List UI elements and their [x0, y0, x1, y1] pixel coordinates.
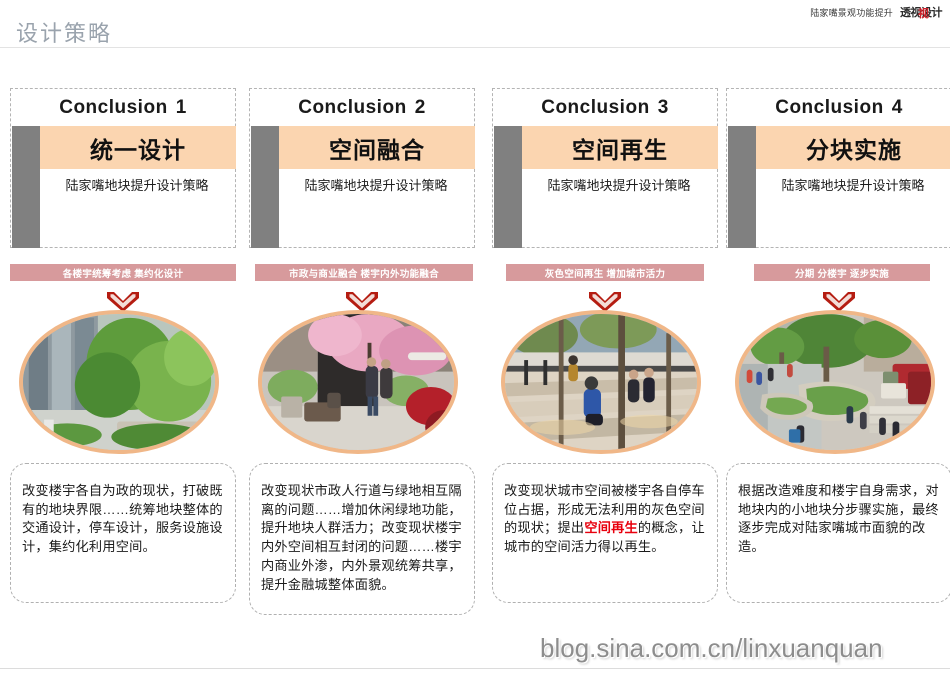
conclusion-title-4: 分块实施 [806, 131, 902, 165]
strategy-badge-4: 分期 分楼宇 逐步实施 [754, 264, 930, 281]
header-brand: 陆家嘴景观功能提升 透视设计 视 [810, 4, 942, 20]
conclusion-title-banner-4: 分块实施 [756, 126, 950, 169]
conclusion-heading-2: Conclusion2 [250, 89, 474, 117]
accent-bar-1 [12, 126, 40, 248]
conclusion-column-4: Conclusion4 分块实施 陆家嘴地块提升设计策略 分期 分楼宇 逐步实施 [726, 88, 950, 281]
conclusion-number-3: 3 [658, 97, 669, 118]
conclusion-card-3: Conclusion3 空间再生 陆家嘴地块提升设计策略 [492, 88, 718, 248]
conclusion-subtitle-1: 陆家嘴地块提升设计策略 [40, 169, 236, 194]
conclusion-title-banner-2: 空间融合 [279, 126, 475, 169]
conclusion-note-4: 根据改造难度和楼宇自身需求，对地块内的小地块分步骤实施，最终逐步完成对陆家嘴城市… [726, 463, 950, 603]
company-logo-accent: 视 [918, 5, 929, 21]
conclusion-subtitle-4: 陆家嘴地块提升设计策略 [756, 169, 950, 194]
conclusion-title-banner-1: 统一设计 [40, 126, 236, 169]
title-divider [0, 47, 950, 48]
conclusion-photo-3 [501, 310, 701, 454]
accent-bar-2 [251, 126, 279, 248]
conclusion-number-2: 2 [415, 97, 426, 118]
conclusion-label-2: Conclusion [298, 97, 406, 118]
strategy-badge-1: 各楼宇统筹考虑 集约化设计 [10, 264, 236, 281]
conclusion-column-1: Conclusion1 统一设计 陆家嘴地块提升设计策略 各楼宇统筹考虑 集约化… [10, 88, 236, 281]
company-logo: 透视设计 视 [900, 4, 942, 20]
conclusion-heading-3: Conclusion3 [493, 89, 717, 117]
conclusion-card-content-3: 空间再生 陆家嘴地块提升设计策略 [522, 126, 718, 248]
conclusion-column-3: Conclusion3 空间再生 陆家嘴地块提升设计策略 灰色空间再生 增加城市… [492, 88, 718, 281]
conclusion-label-1: Conclusion [59, 97, 167, 118]
conclusion-label-3: Conclusion [541, 97, 649, 118]
page-title: 设计策略 [16, 16, 112, 48]
conclusion-column-2: Conclusion2 空间融合 陆家嘴地块提升设计策略 市政与商业融合 楼宇内… [249, 88, 475, 281]
conclusion-title-banner-3: 空间再生 [522, 126, 718, 169]
photo-green-courtyard-building [23, 314, 215, 452]
conclusion-note-3-highlight: 空间再生 [584, 520, 638, 535]
conclusion-card-body-1: 统一设计 陆家嘴地块提升设计策略 [12, 126, 236, 248]
slide-canvas: 陆家嘴景观功能提升 透视设计 视 设计策略 Conclusion1 统一设计 陆… [0, 0, 950, 673]
conclusion-label-4: Conclusion [775, 97, 883, 118]
conclusion-card-2: Conclusion2 空间融合 陆家嘴地块提升设计策略 [249, 88, 475, 248]
watermark: blog.sina.com.cn/linxuanquan [540, 633, 883, 664]
conclusion-number-1: 1 [176, 97, 187, 118]
conclusion-photo-2 [258, 310, 458, 454]
photo-boulevard-planters-shops [739, 314, 931, 452]
bottom-divider [0, 668, 950, 669]
conclusion-note-2: 改变现状市政人行道与绿地相互隔离的问题……增加休闲绿地功能，提升地块人群活力；改… [249, 463, 475, 615]
conclusion-title-3: 空间再生 [572, 131, 668, 165]
conclusion-heading-4: Conclusion4 [727, 89, 950, 117]
photo-stepped-plaza-seating [505, 314, 697, 452]
conclusion-title-1: 统一设计 [90, 131, 186, 165]
conclusion-card-content-1: 统一设计 陆家嘴地块提升设计策略 [40, 126, 236, 248]
conclusion-card-body-4: 分块实施 陆家嘴地块提升设计策略 [728, 126, 950, 248]
photo-blossom-street-cafe [262, 314, 454, 452]
conclusion-card-content-4: 分块实施 陆家嘴地块提升设计策略 [756, 126, 950, 248]
strategy-badge-3: 灰色空间再生 增加城市活力 [506, 264, 704, 281]
conclusion-subtitle-3: 陆家嘴地块提升设计策略 [522, 169, 718, 194]
conclusion-heading-1: Conclusion1 [11, 89, 235, 117]
conclusion-photo-4 [735, 310, 935, 454]
conclusion-card-body-3: 空间再生 陆家嘴地块提升设计策略 [494, 126, 718, 248]
accent-bar-3 [494, 126, 522, 248]
conclusion-card-content-2: 空间融合 陆家嘴地块提升设计策略 [279, 126, 475, 248]
conclusion-card-body-2: 空间融合 陆家嘴地块提升设计策略 [251, 126, 475, 248]
conclusion-subtitle-2: 陆家嘴地块提升设计策略 [279, 169, 475, 194]
accent-bar-4 [728, 126, 756, 248]
conclusion-card-1: Conclusion1 统一设计 陆家嘴地块提升设计策略 [10, 88, 236, 248]
conclusion-number-4: 4 [892, 97, 903, 118]
conclusion-photo-1 [19, 310, 219, 454]
header-brand-text: 陆家嘴景观功能提升 [810, 6, 893, 19]
conclusion-note-3: 改变现状城市空间被楼宇各自停车位占据，形成无法利用的灰色空间的现状；提出空间再生… [492, 463, 718, 603]
conclusion-card-4: Conclusion4 分块实施 陆家嘴地块提升设计策略 [726, 88, 950, 248]
conclusion-note-1: 改变楼宇各自为政的现状，打破既有的地块界限……统筹地块整体的交通设计，停车设计，… [10, 463, 236, 603]
strategy-badge-2: 市政与商业融合 楼宇内外功能融合 [255, 264, 473, 281]
conclusion-title-2: 空间融合 [329, 131, 425, 165]
